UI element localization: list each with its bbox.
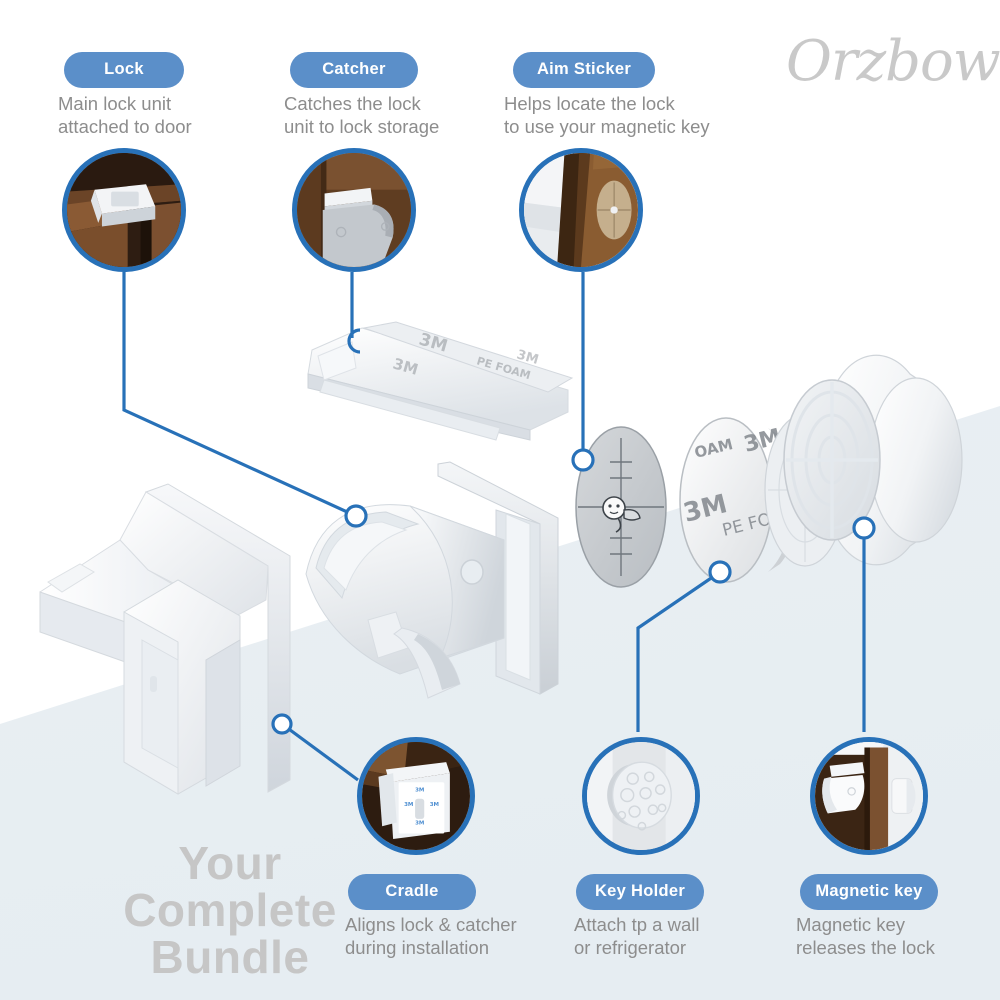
- caption-key-holder: Attach tp a wall or refrigerator: [574, 913, 784, 959]
- art-aim-sticker: [566, 422, 676, 592]
- caption-catcher: Catches the lock unit to lock storage: [284, 92, 504, 138]
- caption-lock: Main lock unit attached to door: [58, 92, 268, 138]
- badge-key-holder[interactable]: Key Holder: [576, 874, 704, 910]
- product-infographic: 3M PE FOAM 3M 3M: [0, 0, 1000, 1000]
- svg-text:3M: 3M: [415, 820, 424, 826]
- photo-lock-on-drawer[interactable]: [62, 148, 186, 272]
- svg-text:3M: 3M: [430, 802, 439, 808]
- art-cradle: [28, 480, 318, 810]
- photo-cradle-installation[interactable]: 3M 3M 3M 3M: [357, 737, 475, 855]
- badge-magnetic-key[interactable]: Magnetic key: [800, 874, 938, 910]
- photo-catcher-on-cabinet[interactable]: [292, 148, 416, 272]
- caption-magnetic-key: Magnetic key releases the lock: [796, 913, 1000, 959]
- brand-logo-text: Orzbow: [786, 29, 1000, 94]
- badge-catcher[interactable]: Catcher: [290, 52, 418, 88]
- photo-magnetic-key-unlocking[interactable]: [810, 737, 928, 855]
- art-lock-unit: [290, 462, 580, 712]
- photo-aim-sticker-on-door[interactable]: [519, 148, 643, 272]
- badge-aim-sticker[interactable]: Aim Sticker: [513, 52, 655, 88]
- page-headline: Your Complete Bundle: [100, 840, 360, 981]
- caption-cradle: Aligns lock & catcher during installatio…: [345, 913, 575, 959]
- svg-text:3M: 3M: [415, 787, 424, 793]
- art-magnetic-key: [770, 352, 970, 582]
- badge-lock[interactable]: Lock: [64, 52, 184, 88]
- photo-key-holder-on-wall[interactable]: [582, 737, 700, 855]
- caption-aim-sticker: Helps locate the lock to use your magnet…: [504, 92, 764, 138]
- brand-logo: Orzbow®: [786, 34, 1000, 90]
- badge-cradle[interactable]: Cradle: [348, 874, 476, 910]
- art-catcher: 3M PE FOAM 3M 3M: [300, 322, 580, 452]
- svg-text:3M: 3M: [404, 802, 413, 808]
